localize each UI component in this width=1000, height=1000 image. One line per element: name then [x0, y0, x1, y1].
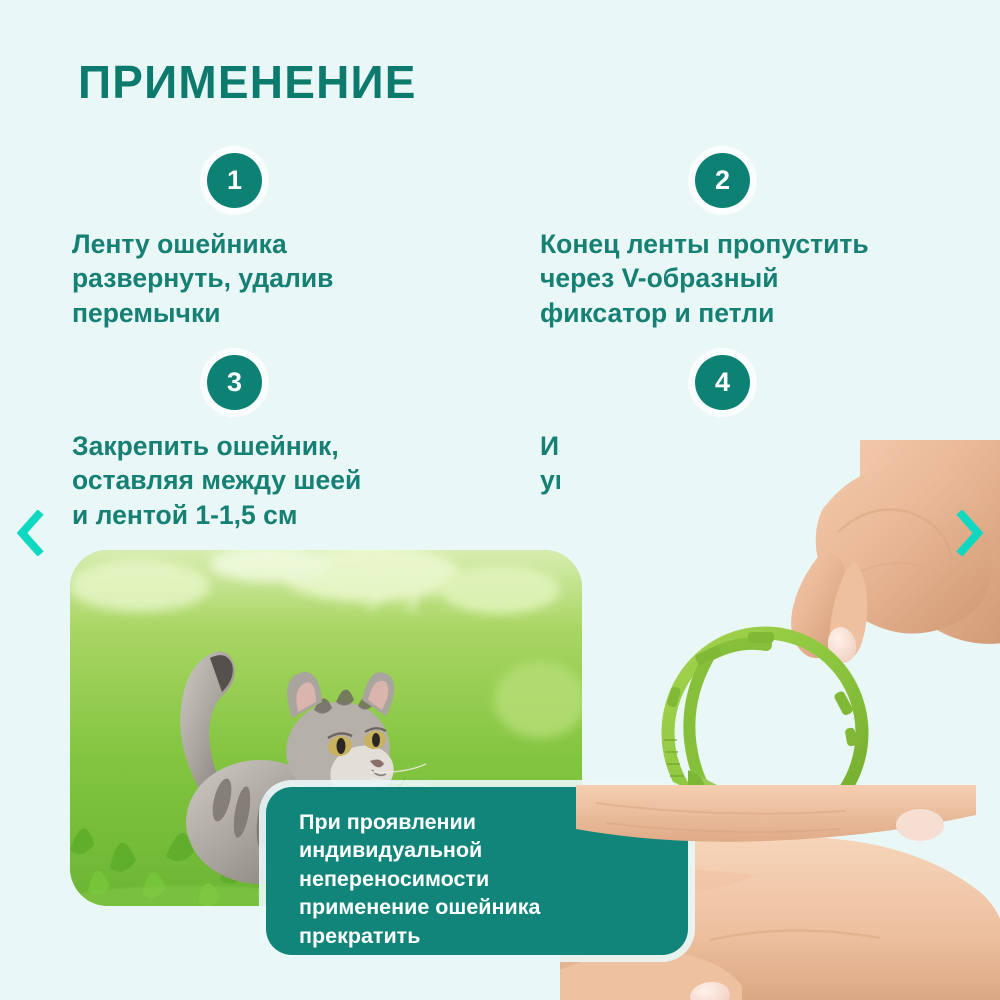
step-item-3: 3 Закрепить ошейник, оставляя между шеей… — [72, 355, 492, 532]
step-item-2: 2 Конец ленты пропустить через V-образны… — [540, 153, 960, 330]
step-number-badge-3: 3 — [207, 355, 262, 410]
carousel-prev-button[interactable] — [8, 505, 52, 561]
carousel-next-button[interactable] — [948, 505, 992, 561]
chevron-left-icon[interactable] — [15, 510, 45, 556]
step-text-2: Конец ленты пропустить через V-образный … — [540, 227, 960, 330]
step-number-badge-4: 4 — [695, 355, 750, 410]
step-text-1: Ленту ошейника развернуть, удалив перемы… — [72, 227, 492, 330]
warning-callout: При проявлении индивидуальной непереноси… — [266, 787, 688, 955]
page-title: ПРИМЕНЕНИЕ — [78, 57, 417, 108]
step-text-3: Закрепить ошейник, оставляя между шеей и… — [72, 429, 492, 532]
warning-text: При проявлении индивидуальной непереноси… — [299, 808, 674, 950]
slide-root: ПРИМЕНЕНИЕ 1 Ленту ошейника развернуть, … — [0, 0, 1000, 1000]
step-number-badge-1: 1 — [207, 153, 262, 208]
chevron-right-icon[interactable] — [955, 510, 985, 556]
step-item-1: 1 Ленту ошейника развернуть, удалив пере… — [72, 153, 492, 330]
step-number-badge-2: 2 — [695, 153, 750, 208]
